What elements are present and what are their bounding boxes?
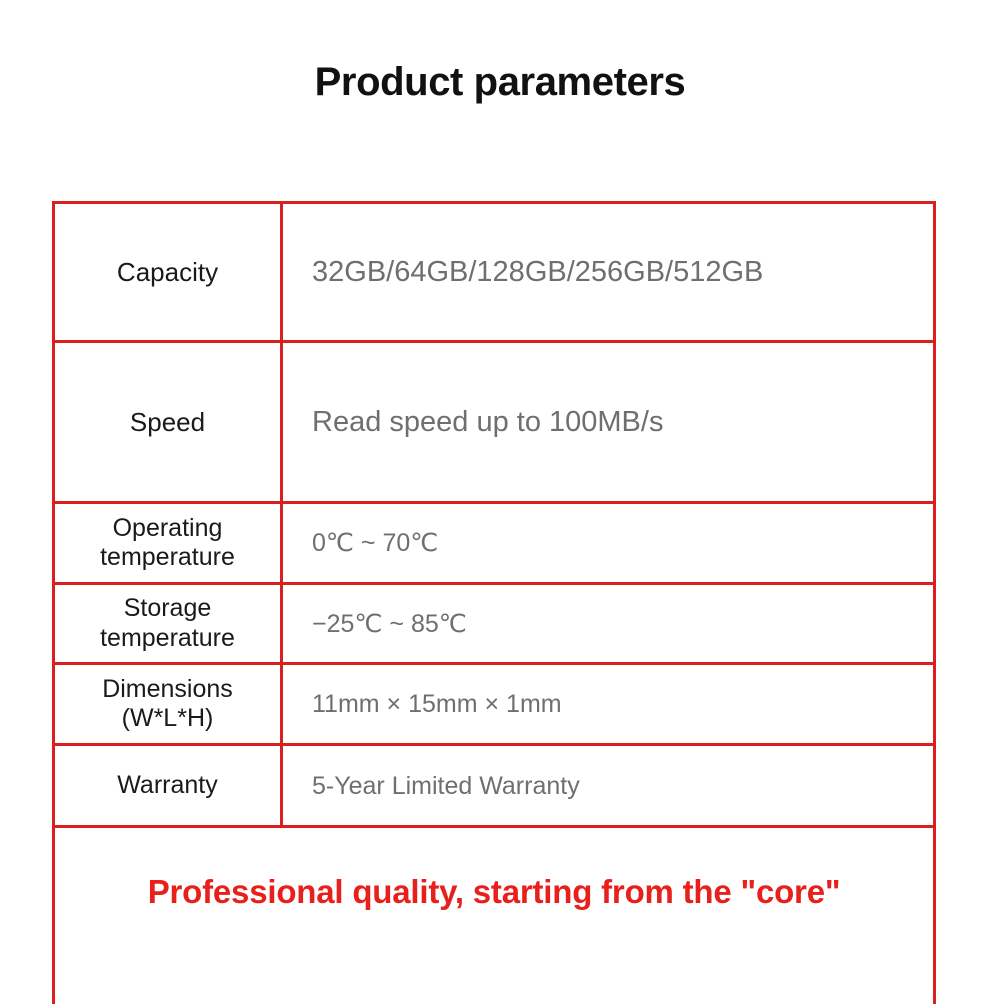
spec-label-dimensions: Dimensions(W*L*H) (55, 665, 283, 743)
spec-label-speed: Speed (55, 343, 283, 501)
table-row: Speed Read speed up to 100MB/s (55, 343, 933, 504)
spec-label-warranty: Warranty (55, 746, 283, 825)
spec-label-storage-temperature: Storagetemperature (55, 585, 283, 662)
table-row: Operatingtemperature 0℃ ~ 70℃ (55, 504, 933, 585)
spec-table: Capacity 32GB/64GB/128GB/256GB/512GB Spe… (52, 201, 936, 1004)
product-parameters-page: Product parameters Capacity 32GB/64GB/12… (0, 0, 1000, 1000)
table-row: Capacity 32GB/64GB/128GB/256GB/512GB (55, 204, 933, 343)
table-row: Warranty 5-Year Limited Warranty (55, 746, 933, 828)
spec-value-warranty: 5-Year Limited Warranty (283, 746, 933, 825)
spec-label-operating-temperature: Operatingtemperature (55, 504, 283, 582)
table-row: Dimensions(W*L*H) 11mm × 15mm × 1mm (55, 665, 933, 746)
tagline-row: Professional quality, starting from the … (55, 828, 933, 1004)
spec-value-dimensions: 11mm × 15mm × 1mm (283, 665, 933, 743)
spec-value-speed: Read speed up to 100MB/s (283, 343, 933, 501)
table-row: Storagetemperature −25℃ ~ 85℃ (55, 585, 933, 665)
spec-value-operating-temperature: 0℃ ~ 70℃ (283, 504, 933, 582)
spec-label-capacity: Capacity (55, 204, 283, 340)
page-title: Product parameters (0, 60, 1000, 104)
spec-value-capacity: 32GB/64GB/128GB/256GB/512GB (283, 204, 933, 340)
tagline-text: Professional quality, starting from the … (55, 828, 933, 908)
spec-value-storage-temperature: −25℃ ~ 85℃ (283, 585, 933, 662)
